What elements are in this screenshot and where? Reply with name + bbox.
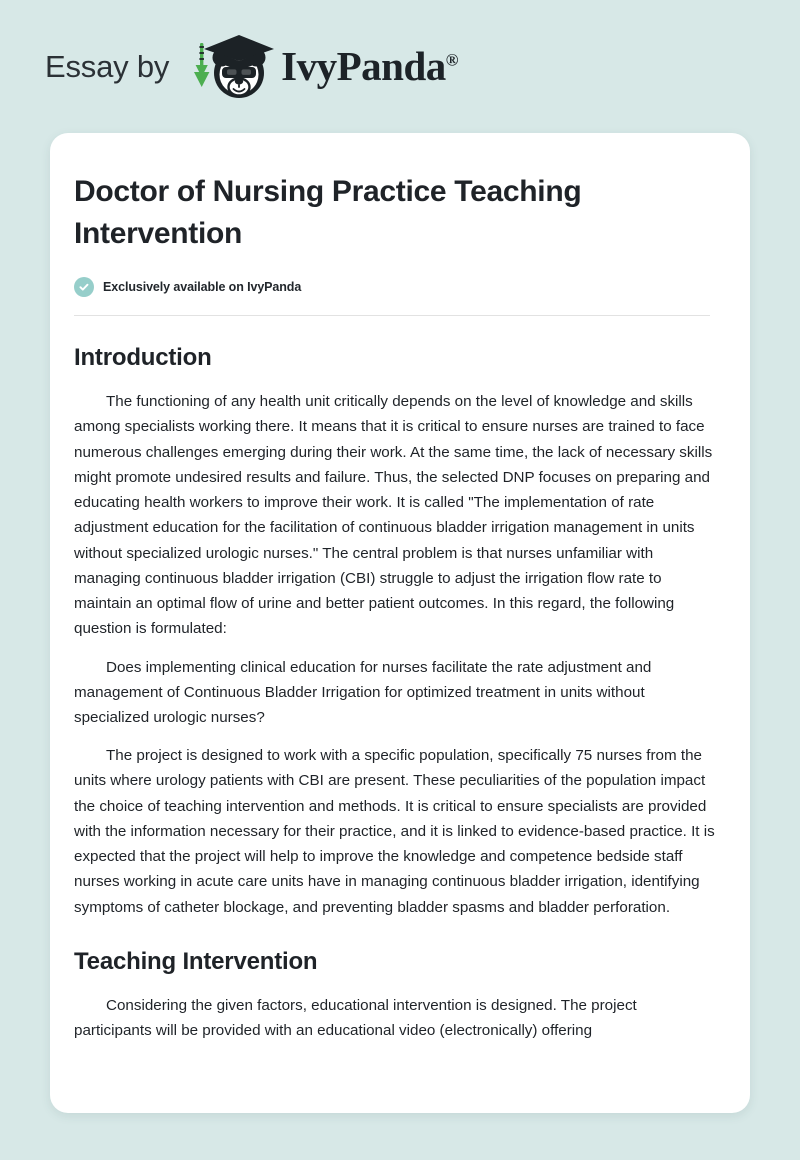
paragraph: Considering the given factors, education… (74, 993, 724, 1043)
header-divider (74, 315, 710, 316)
section-heading-teaching-intervention: Teaching Intervention (74, 946, 724, 977)
ivypanda-brand-lockup[interactable]: IvyPanda® (183, 31, 458, 103)
status-badge: Exclusively available on IvyPanda (74, 277, 724, 297)
section-heading-introduction: Introduction (74, 342, 724, 373)
ivypanda-wordmark: IvyPanda® (281, 46, 458, 87)
check-circle-icon (74, 277, 94, 297)
paragraph: The functioning of any health unit criti… (74, 389, 724, 641)
registered-trademark-symbol: ® (446, 50, 458, 69)
status-badge-label: Exclusively available on IvyPanda (103, 280, 301, 294)
paper-content: Doctor of Nursing Practice Teaching Inte… (74, 171, 724, 1044)
page-header: Essay by (0, 0, 800, 133)
page-title: Doctor of Nursing Practice Teaching Inte… (74, 171, 724, 255)
essay-paper-card: Doctor of Nursing Practice Teaching Inte… (50, 133, 750, 1113)
paragraph: The project is designed to work with a s… (74, 743, 724, 920)
paragraph: Does implementing clinical education for… (74, 655, 724, 731)
panda-graduation-cap-logo-icon (183, 31, 279, 103)
essay-by-label: Essay by (45, 51, 169, 82)
brand-name-text: IvyPanda (281, 43, 446, 89)
